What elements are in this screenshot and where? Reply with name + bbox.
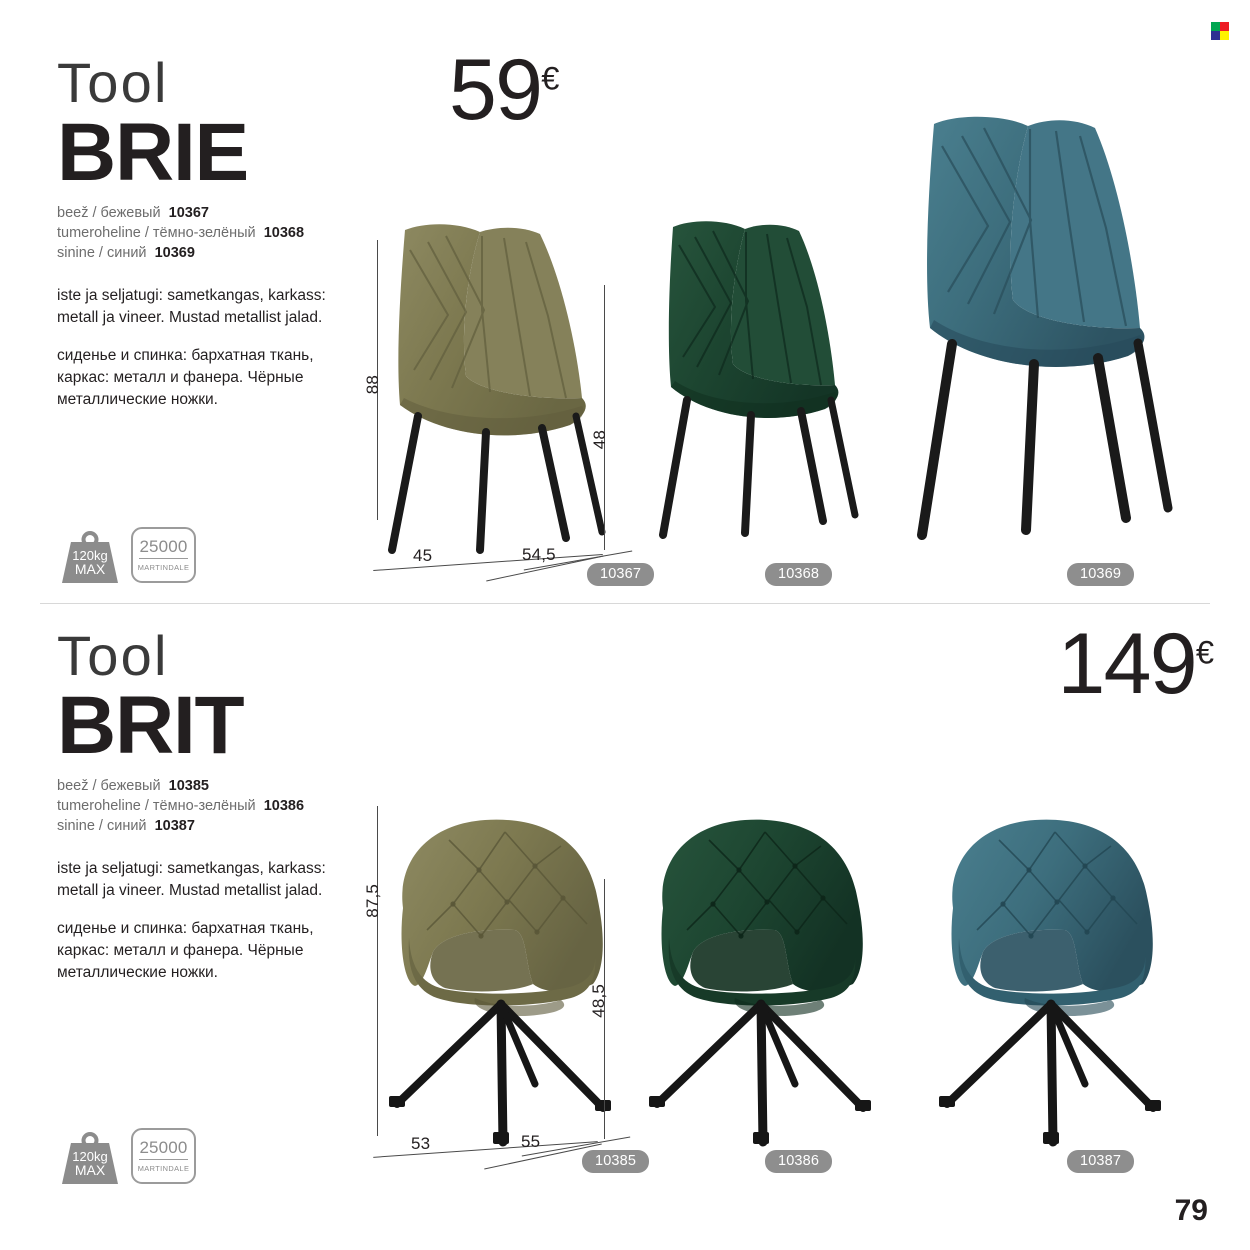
brit-color-name-1: tumeroheline / тёмно-зелёный (57, 798, 256, 814)
brie-martindale-value: 25000 (139, 538, 187, 559)
armchair-illustration-beige (375, 812, 620, 1152)
brit-description: iste ja seljatugi: sametkangas, karkass:… (57, 858, 357, 984)
brit-color-code-0: 10385 (169, 778, 209, 794)
brie-pill-10368[interactable]: 10368 (765, 563, 832, 586)
weight-body: 120kg MAX (62, 1143, 118, 1184)
brie-color-name-0: beež / бежевый (57, 205, 161, 221)
brit-model: BRIT (57, 688, 357, 763)
brit-color-code-list: beež / бежевый 10385 tumeroheline / тёмн… (57, 777, 357, 836)
brie-dim-seat-height: 48 (590, 430, 610, 449)
brit-dim-width: 55 (521, 1132, 540, 1152)
brie-chair-beige (370, 220, 620, 550)
brie-color-code-item: sinine / синий 10369 (57, 244, 357, 264)
brit-weight-label: MAX (75, 1163, 105, 1177)
brit-pill-10386[interactable]: 10386 (765, 1150, 832, 1173)
armchair-illustration-blue (925, 812, 1170, 1152)
brit-pill-10385[interactable]: 10385 (582, 1150, 649, 1173)
chair-illustration-blue (900, 110, 1190, 535)
weight-body: 120kg MAX (62, 542, 118, 583)
brit-badges: 120kg MAX 25000 MARTINDALE (62, 1128, 196, 1184)
brie-model: BRIE (57, 115, 357, 190)
martindale-icon: 25000 MARTINDALE (131, 1128, 196, 1184)
catalog-page: Tool BRIE beež / бежевый 10367 tumerohel… (0, 0, 1250, 1250)
brie-color-name-2: sinine / синий (57, 245, 147, 261)
brit-color-name-0: beež / бежевый (57, 778, 161, 794)
brit-color-name-2: sinine / синий (57, 818, 147, 834)
dim-line-height (377, 806, 378, 1136)
brie-dim-width: 54,5 (522, 545, 556, 565)
brit-price-currency: € (1196, 633, 1214, 670)
brit-chair-green (635, 812, 880, 1152)
brit-description-et: iste ja seljatugi: sametkangas, karkass:… (57, 858, 357, 902)
brit-weight-value: 120kg (72, 1150, 107, 1163)
brie-chair-stage: 88 48 45 54,5 10367 10368 10369 (355, 90, 1215, 590)
brit-pill-10387[interactable]: 10387 (1067, 1150, 1134, 1173)
brie-weight-value: 120kg (72, 549, 107, 562)
brit-brand: Tool (57, 628, 357, 684)
brit-dim-seat-height: 48,5 (589, 984, 609, 1018)
weight-capacity-icon: 120kg MAX (62, 531, 118, 583)
brit-color-code-item: beež / бежевый 10385 (57, 777, 357, 797)
brit-color-code-1: 10386 (264, 798, 304, 814)
brit-color-code-2: 10387 (155, 818, 195, 834)
brit-color-code-item: tumeroheline / тёмно-зелёный 10386 (57, 797, 357, 817)
brit-martindale-value: 25000 (139, 1139, 187, 1160)
brie-color-code-item: beež / бежевый 10367 (57, 204, 357, 224)
product-section-brit: Tool BRIT beež / бежевый 10385 tumerohel… (0, 604, 1250, 1250)
brit-martindale-label: MARTINDALE (138, 1164, 190, 1173)
brie-description-et: iste ja seljatugi: sametkangas, karkass:… (57, 285, 357, 329)
brit-dim-height: 87,5 (363, 884, 383, 918)
brit-description-ru: сиденье и спинка: бархатная ткань, карка… (57, 918, 357, 984)
brie-description-ru: сиденье и спинка: бархатная ткань, карка… (57, 345, 357, 411)
brie-description: iste ja seljatugi: sametkangas, karkass:… (57, 285, 357, 411)
brie-color-code-item: tumeroheline / тёмно-зелёный 10368 (57, 224, 357, 244)
brit-price: 149€ (1058, 626, 1215, 703)
brit-color-code-item: sinine / синий 10387 (57, 817, 357, 837)
brie-badges: 120kg MAX 25000 MARTINDALE (62, 527, 196, 583)
brit-chair-stage: 87,5 48,5 53 55 10385 10386 10387 (355, 794, 1215, 1214)
weight-capacity-icon: 120kg MAX (62, 1132, 118, 1184)
chair-illustration-beige (370, 220, 620, 550)
brie-color-code-1: 10368 (264, 225, 304, 241)
brie-chair-green (645, 215, 875, 535)
brie-color-code-2: 10369 (155, 245, 195, 261)
brie-text-column: Tool BRIE beež / бежевый 10367 tumerohel… (57, 55, 357, 411)
brie-dim-height: 88 (363, 375, 383, 394)
brie-pill-10369[interactable]: 10369 (1067, 563, 1134, 586)
brie-weight-label: MAX (75, 562, 105, 576)
brie-color-code-0: 10367 (169, 205, 209, 221)
brit-text-column: Tool BRIT beež / бежевый 10385 tumerohel… (57, 628, 357, 984)
brie-pill-10367[interactable]: 10367 (587, 563, 654, 586)
brit-chair-beige (375, 812, 620, 1152)
brie-color-code-list: beež / бежевый 10367 tumeroheline / тёмн… (57, 204, 357, 263)
product-section-brie: Tool BRIE beež / бежевый 10367 tumerohel… (0, 0, 1250, 603)
chair-illustration-green (645, 215, 875, 535)
brie-brand: Tool (57, 55, 357, 111)
page-number: 79 (1175, 1194, 1208, 1228)
martindale-icon: 25000 MARTINDALE (131, 527, 196, 583)
armchair-illustration-green (635, 812, 880, 1152)
brie-dim-depth: 45 (413, 546, 432, 566)
brie-color-name-1: tumeroheline / тёмно-зелёный (57, 225, 256, 241)
brie-martindale-label: MARTINDALE (138, 563, 190, 572)
brit-chair-blue (925, 812, 1170, 1152)
brie-chair-blue (900, 110, 1190, 535)
brit-price-amount: 149 (1058, 616, 1196, 712)
dim-line-seat-height (604, 285, 605, 550)
brit-dim-depth: 53 (411, 1134, 430, 1154)
